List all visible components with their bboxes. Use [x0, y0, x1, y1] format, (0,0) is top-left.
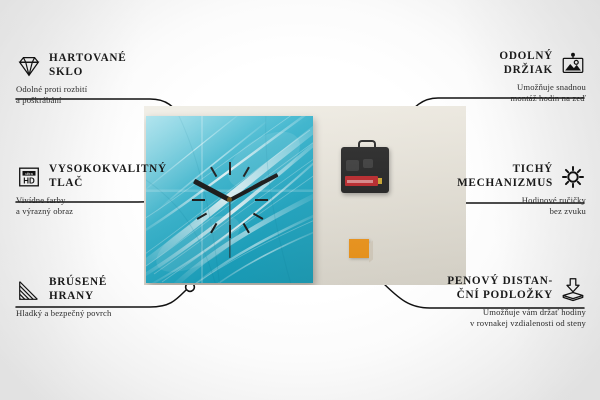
clock-second-hand: [229, 200, 230, 258]
feature-title-line1: TICHÝ: [457, 163, 553, 177]
feature-title: PENOVÝ DISTAN- ČNÍ PODLOŽKY: [447, 275, 553, 302]
diamond-icon: [16, 53, 42, 79]
feature-silent-mechanism: TICHÝ MECHANIZMUS Hodinové ručičky bez z…: [411, 163, 586, 218]
feature-desc-line1: Hladký a bezpečný povrch: [16, 308, 191, 319]
feature-desc-line2: bez zvuku: [411, 206, 586, 217]
feature-heading: ultra HD VYSOKOKVALITNÝ TLAČ: [16, 163, 181, 190]
feature-title: HARTOVANÉ SKLO: [49, 52, 126, 79]
feature-title-line2: MECHANIZMUS: [457, 177, 553, 191]
feature-description: Odolné proti rozbití a poškrábání: [16, 84, 181, 107]
feature-title-line2: DRŽIAK: [499, 64, 553, 78]
feature-desc-line2: a výrazný obraz: [16, 206, 181, 217]
clock-hub: [227, 197, 232, 202]
feature-title: VYSOKOKVALITNÝ TLAČ: [49, 163, 167, 190]
feature-heading: PENOVÝ DISTAN- ČNÍ PODLOŽKY: [400, 275, 586, 302]
feature-title: TICHÝ MECHANIZMUS: [457, 163, 553, 190]
feature-title-line2: HRANY: [49, 290, 107, 304]
svg-text:HD: HD: [23, 176, 35, 185]
feature-title-line1: PENOVÝ DISTAN-: [447, 275, 553, 289]
feature-title-line1: VYSOKOKVALITNÝ: [49, 163, 167, 177]
feature-title-line1: ODOLNÝ: [499, 50, 553, 64]
feature-foam-spacers: PENOVÝ DISTAN- ČNÍ PODLOŽKY Umožňuje vám…: [400, 275, 586, 330]
feature-description: Umožňuje vám držať hodiny v rovnakej vzd…: [400, 307, 586, 330]
svg-text:ultra: ultra: [25, 170, 33, 175]
foam-spacer-pad: [349, 239, 369, 258]
clock-mechanism: [341, 147, 389, 193]
feature-desc-line2: a poškrábání: [16, 95, 181, 106]
feature-title-line1: HARTOVANÉ: [49, 52, 126, 66]
feature-high-quality-print: ultra HD VYSOKOKVALITNÝ TLAČ Vivídne far…: [16, 163, 181, 218]
mechanism-detail: [363, 159, 373, 168]
feature-description: Hodinové ručičky bez zvuku: [411, 195, 586, 218]
feature-heading: HARTOVANÉ SKLO: [16, 52, 181, 79]
feature-title-line2: TLAČ: [49, 177, 167, 191]
feature-desc-line1: Hodinové ručičky: [411, 195, 586, 206]
feature-heading: ODOLNÝ DRŽIAK: [416, 50, 586, 77]
infographic-stage: HARTOVANÉ SKLO Odolné proti rozbití a po…: [0, 0, 600, 400]
ultra-hd-icon: ultra HD: [16, 164, 42, 190]
feature-desc-line1: Vivídne farby: [16, 195, 181, 206]
feature-polished-edges: BRÚSENÉ HRANY Hladký a bezpečný povrch: [16, 276, 191, 319]
feature-desc-line1: Odolné proti rozbití: [16, 84, 181, 95]
mechanism-detail: [346, 160, 359, 171]
feature-hardened-glass: HARTOVANÉ SKLO Odolné proti rozbití a po…: [16, 52, 181, 107]
feature-title: BRÚSENÉ HRANY: [49, 276, 107, 303]
feature-title: ODOLNÝ DRŽIAK: [499, 50, 553, 77]
feature-title-line1: BRÚSENÉ: [49, 276, 107, 290]
feature-description: Vivídne farby a výrazný obraz: [16, 195, 181, 218]
feature-desc-line1: Umožňuje snadnou: [416, 82, 586, 93]
mechanism-hanger: [358, 140, 376, 152]
feature-heading: TICHÝ MECHANIZMUS: [411, 163, 586, 190]
feature-description: Hladký a bezpečný povrch: [16, 308, 191, 319]
feature-title-line2: SKLO: [49, 66, 126, 80]
feature-title-line2: ČNÍ PODLOŽKY: [447, 289, 553, 303]
feature-desc-line2: v rovnakej vzdialenosti od steny: [400, 318, 586, 329]
feature-desc-line2: montáž hodin na zeď: [416, 93, 586, 104]
foam-spacer-icon: [560, 276, 586, 302]
gear-icon: [560, 164, 586, 190]
feature-heading: BRÚSENÉ HRANY: [16, 276, 191, 303]
polished-edge-icon: [16, 277, 42, 303]
battery-label: [347, 180, 373, 183]
feature-desc-line1: Umožňuje vám držať hodiny: [400, 307, 586, 318]
feature-description: Umožňuje snadnou montáž hodin na zeď: [416, 82, 586, 105]
feature-durable-holder: ODOLNÝ DRŽIAK Umožňuje snadnou montáž ho…: [416, 50, 586, 105]
picture-hanger-icon: [560, 51, 586, 77]
battery: [345, 176, 378, 186]
